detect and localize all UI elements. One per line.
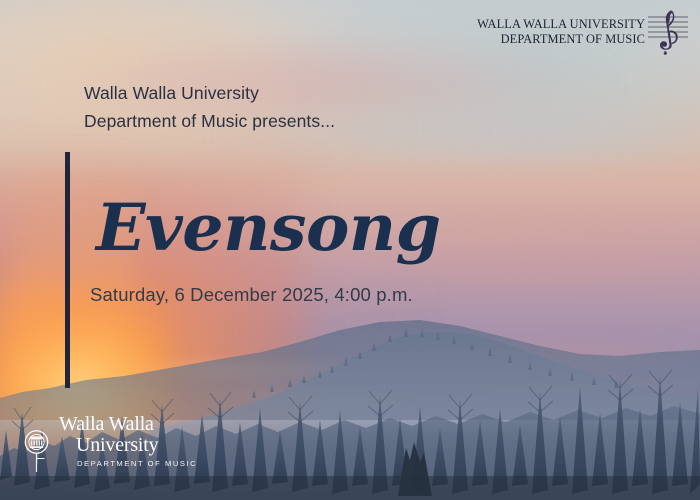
accent-bar — [65, 152, 70, 388]
presents-line1: Walla Walla University — [84, 80, 335, 108]
footer-logo-text: Walla Walla University DEPARTMENT OF MUS… — [59, 414, 197, 468]
footer-logo: Walla Walla University DEPARTMENT OF MUS… — [22, 414, 197, 472]
presents-block: Walla Walla University Department of Mus… — [84, 80, 335, 135]
ground-shadow — [0, 476, 700, 500]
presents-line2: Department of Music presents... — [84, 108, 335, 136]
page-title: Evensong — [96, 196, 441, 261]
header-logo-line1: WALLA WALLA UNIVERSITY — [477, 17, 645, 32]
header-logo-line2: DEPARTMENT OF MUSIC — [477, 32, 645, 47]
event-date: Saturday, 6 December 2025, 4:00 p.m. — [90, 284, 413, 306]
treble-clef-icon — [648, 9, 688, 55]
header-logo-text: WALLA WALLA UNIVERSITY DEPARTMENT OF MUS… — [477, 17, 645, 46]
poster-canvas: WALLA WALLA UNIVERSITY DEPARTMENT OF MUS… — [0, 0, 700, 500]
footer-logo-department: DEPARTMENT OF MUSIC — [77, 459, 197, 468]
footer-logo-line1: Walla Walla — [59, 414, 197, 435]
university-seal-icon — [22, 428, 53, 472]
footer-logo-line2: University — [76, 435, 197, 456]
header-logo: WALLA WALLA UNIVERSITY DEPARTMENT OF MUS… — [477, 9, 688, 55]
